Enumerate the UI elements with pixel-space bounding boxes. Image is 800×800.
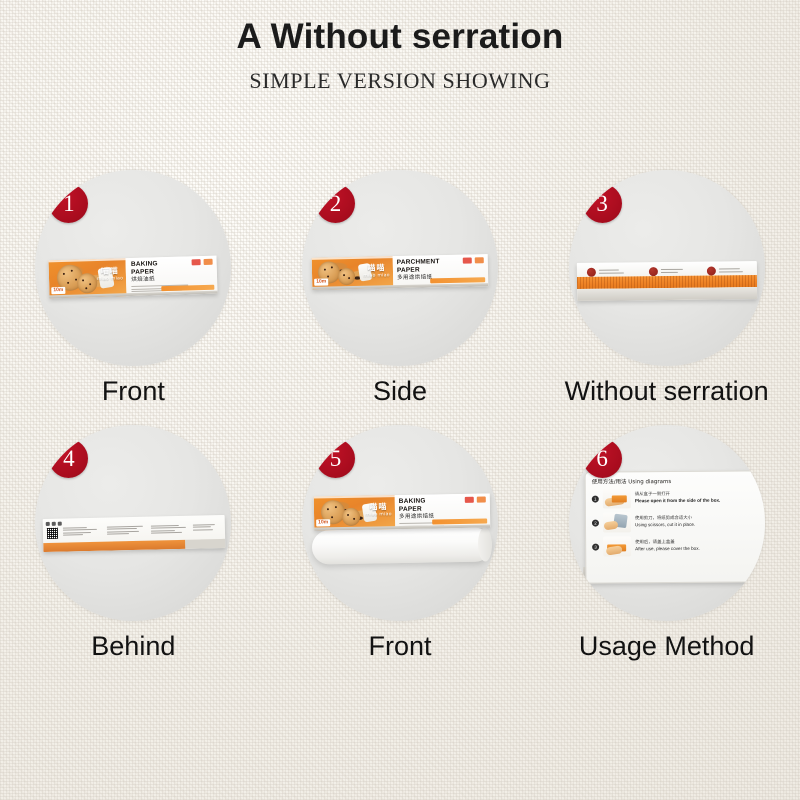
- package-fineprint-column: [63, 525, 103, 538]
- caption-1: Front: [102, 376, 165, 407]
- usage-heading-cn: 使用方法/用法: [591, 479, 626, 485]
- usage-step-en: Please open it from the side of the box.: [634, 497, 761, 504]
- cookie-icon: [77, 273, 98, 294]
- usage-instruction-card: 使用方法/用法 Using diagrams 1 请从盒子一侧打开: [584, 470, 764, 583]
- caption-4: Behind: [91, 631, 175, 662]
- package-seal-icon: [586, 268, 595, 277]
- usage-step-number: 1: [591, 495, 598, 502]
- package-color-swatches: [463, 257, 484, 263]
- badge-number-2: 2: [316, 184, 355, 223]
- usage-step: 1 请从盒子一侧打开 Please open it from the side …: [591, 487, 761, 508]
- usage-step-en: Using scissors, cut it in place.: [635, 521, 762, 528]
- badge-number-5: 5: [316, 439, 355, 478]
- package-label-text: [599, 268, 627, 274]
- usage-step-number: 3: [592, 543, 599, 550]
- caption-5: Front: [368, 631, 431, 662]
- qr-code-icon: [47, 528, 58, 539]
- caption-6: Usage Method: [579, 631, 755, 662]
- usage-step-en: After use, please cover the box.: [635, 545, 762, 552]
- package-gray-edge: [185, 539, 225, 549]
- photo-row-2: 4: [0, 425, 800, 662]
- product-photo-1[interactable]: 1 10m 喵喵: [35, 170, 231, 366]
- badge-number-1: 1: [49, 184, 88, 223]
- package-box-back: [43, 515, 226, 552]
- photo-cell-front[interactable]: 1 10m 喵喵: [8, 170, 258, 407]
- package-brand-5: 喵喵 miao miao: [365, 503, 392, 518]
- hand-icon: [603, 520, 618, 530]
- badge-number-6: 6: [583, 439, 622, 478]
- photo-grid: 1 10m 喵喵: [0, 170, 800, 662]
- paper-roll: [312, 527, 493, 564]
- badge-number-3: 3: [583, 184, 622, 223]
- photo-row-1: 1 10m 喵喵: [0, 170, 800, 407]
- caption-2: Side: [373, 376, 427, 407]
- package-length-1: 10m: [52, 287, 66, 294]
- cookie-icon: [338, 268, 355, 285]
- badge-number-4: 4: [49, 439, 88, 478]
- package-length-5: 10m: [316, 519, 330, 526]
- usage-step-illustration: [603, 512, 631, 532]
- product-infographic: A Without serration SIMPLE VERSION SHOWI…: [0, 0, 800, 800]
- package-orange-bar: [432, 519, 487, 525]
- usage-step-illustration: [603, 536, 631, 556]
- product-photo-6[interactable]: 6 使用方法/用法 Using diagrams 1: [569, 425, 765, 621]
- header: A Without serration SIMPLE VERSION SHOWI…: [0, 18, 800, 94]
- usage-step-text: 使用剪刀，将纸剪成合适大小 Using scissors, cut it in …: [635, 516, 762, 528]
- package-brand-1: 喵喵 miao miao: [97, 267, 124, 283]
- usage-step: 2 使用剪刀，将纸剪成合适大小 Using scissors, cut it i…: [592, 511, 762, 532]
- product-photo-4[interactable]: 4: [35, 425, 231, 621]
- package-label-text: [719, 267, 747, 273]
- product-photo-5[interactable]: 5 10m 喵喵: [302, 425, 498, 621]
- usage-heading-en: Using diagrams: [628, 479, 671, 485]
- usage-step: 3 使用后，请盖上盒盖 After use, please cover the …: [592, 535, 762, 556]
- package-seal-icon: [706, 266, 715, 275]
- package-fineprint-column: [151, 523, 191, 536]
- cookie-icon: [342, 508, 360, 526]
- package-fineprint-column: [193, 522, 221, 532]
- package-lower-edge: [577, 287, 757, 301]
- package-orange-edge: [44, 540, 186, 552]
- photo-cell-usage-method[interactable]: 6 使用方法/用法 Using diagrams 1: [542, 425, 792, 662]
- product-photo-2[interactable]: 2 10m 喵喵: [302, 170, 498, 366]
- package-color-swatches: [465, 497, 486, 503]
- package-label-text: [661, 268, 689, 274]
- package-cookie-artwork: 10m 喵喵 miao miao: [314, 495, 396, 530]
- usage-step-text: 请从盒子一侧打开 Please open it from the side of…: [634, 492, 761, 504]
- package-certification-icons: [46, 522, 62, 526]
- usage-step-illustration: [602, 488, 630, 508]
- package-fineprint-column: [107, 524, 147, 537]
- box-icon: [611, 495, 626, 502]
- caption-3: Without serration: [565, 376, 769, 407]
- product-photo-3[interactable]: 3: [569, 170, 765, 366]
- package-length-2: 10m: [314, 279, 328, 286]
- page-title: A Without serration: [0, 18, 800, 57]
- package-box-side: 10m 喵喵 miao miao PARCHMENT PAPER 多用途烘焙纸: [312, 254, 489, 290]
- photo-cell-without-serration[interactable]: 3 Without serration: [542, 170, 792, 407]
- package-box-bottom-edge: [576, 261, 756, 301]
- photo-cell-side[interactable]: 2 10m 喵喵: [275, 170, 525, 407]
- usage-step-number: 2: [592, 519, 599, 526]
- package-cn-title: 烘焙油纸: [132, 275, 214, 284]
- page-subtitle: SIMPLE VERSION SHOWING: [0, 68, 800, 94]
- hand-icon: [605, 545, 622, 555]
- usage-card-heading: 使用方法/用法 Using diagrams: [591, 476, 761, 485]
- package-cookie-artwork: 10m 喵喵 miao miao: [49, 258, 127, 298]
- package-seal-icon: [648, 267, 657, 276]
- package-box-front: 10m 喵喵 miao miao BAKING PAPER 烘焙油纸: [49, 256, 218, 299]
- package-color-swatches: [192, 259, 213, 266]
- package-brand-2: 喵喵 miao miao: [363, 263, 390, 279]
- photo-cell-behind[interactable]: 4: [8, 425, 258, 662]
- usage-step-text: 使用后，请盖上盒盖 After use, please cover the bo…: [635, 540, 762, 552]
- photo-cell-front-with-roll[interactable]: 5 10m 喵喵: [275, 425, 525, 662]
- package-box-front-2: 10m 喵喵 miao miao BAKING PAPER 多用途烘焙纸: [314, 493, 491, 530]
